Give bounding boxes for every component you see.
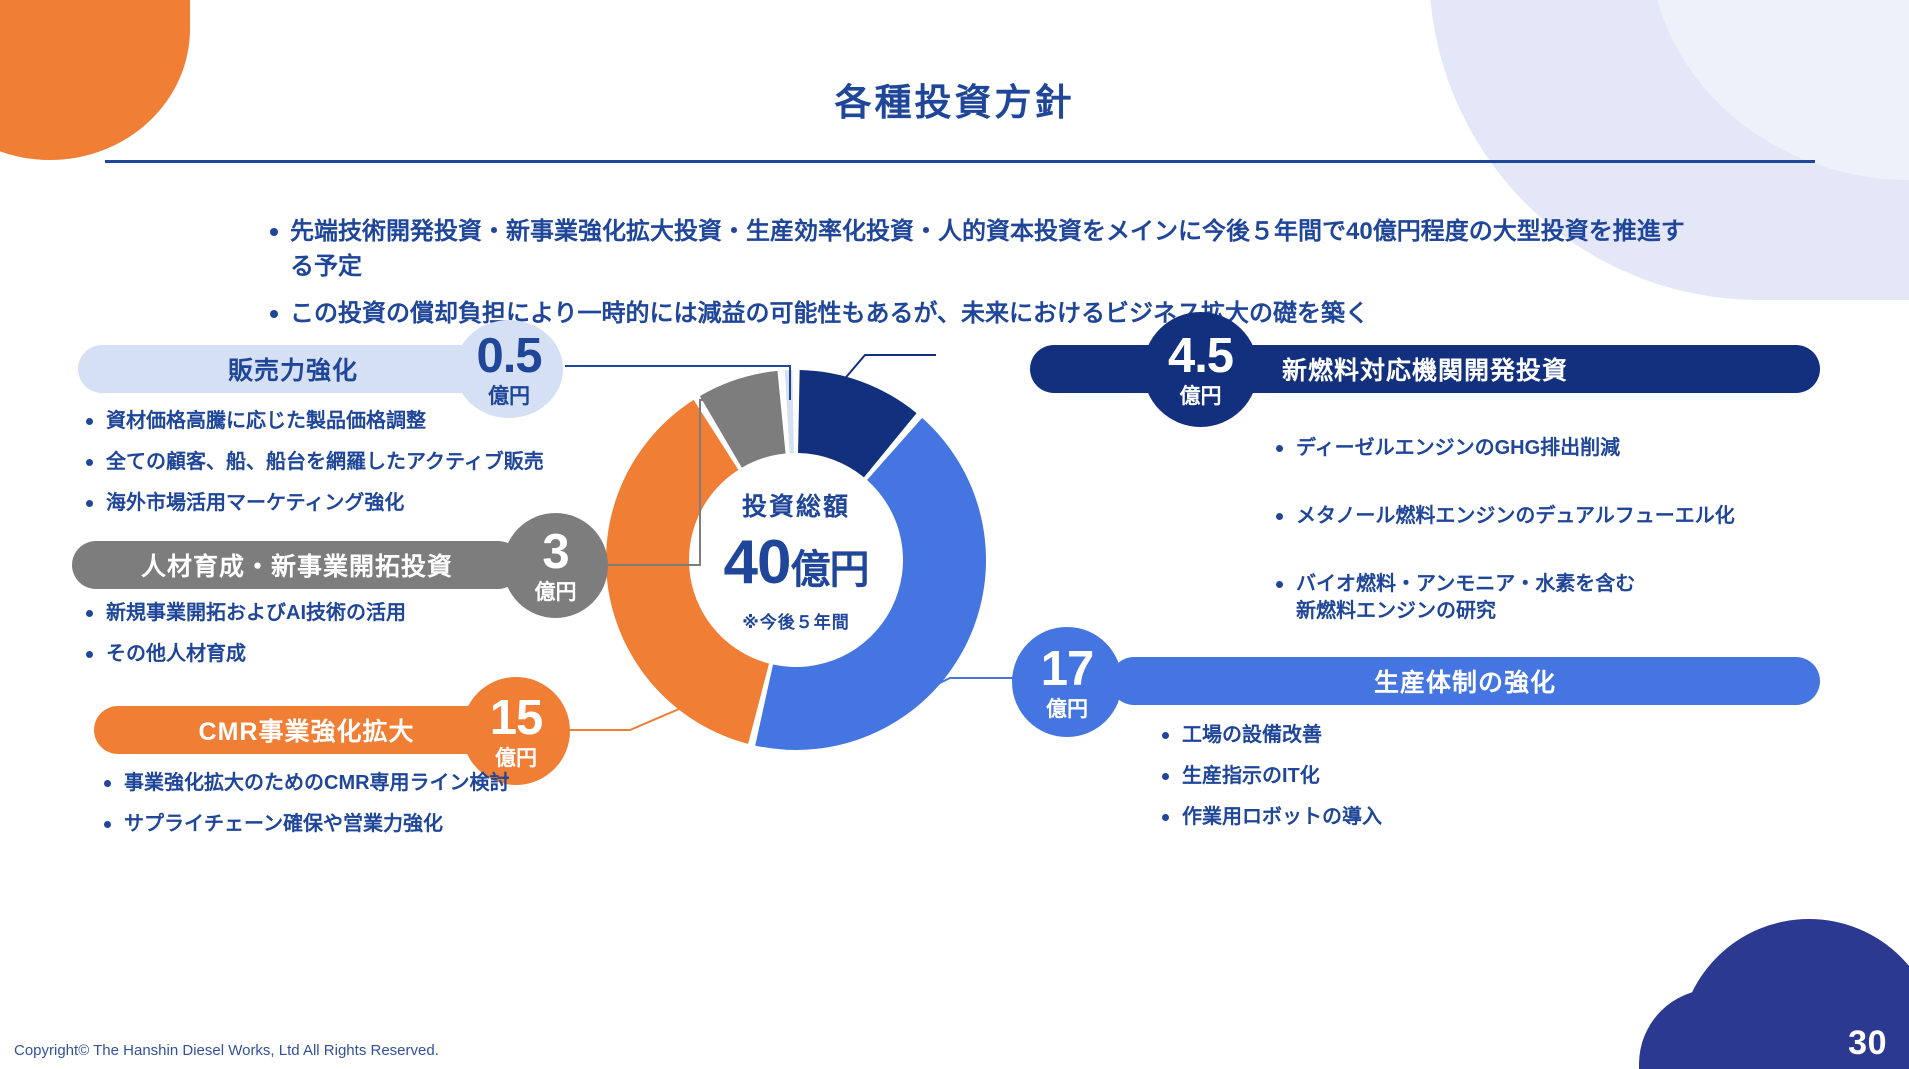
list-item: 作業用ロボットの導入 xyxy=(1158,804,1778,831)
donut-segment xyxy=(785,370,794,453)
section-pill-hr[interactable]: 人材育成・新事業開拓投資 xyxy=(72,541,522,589)
amount-unit-sales: 億円 xyxy=(488,386,530,407)
copyright-notice: Copyright© The Hanshin Diesel Works, Ltd… xyxy=(14,1042,439,1059)
amount-value-production: 17 xyxy=(1041,645,1094,694)
amount-value-newfuel: 4.5 xyxy=(1168,332,1233,381)
decoration-bottom-right-orange xyxy=(1669,959,1869,1069)
intro-bullet-list: 先端技術開発投資・新事業強化拡大投資・生産効率化投資・人的資本投資をメインに今後… xyxy=(268,215,1698,343)
section-pill-sales[interactable]: 販売力強化 xyxy=(78,345,508,393)
decoration-bottom-right-navy-small xyxy=(1639,989,1789,1069)
section-pill-production[interactable]: 生産体制の強化 xyxy=(1110,657,1820,705)
amount-value-sales: 0.5 xyxy=(476,332,541,381)
list-item: バイオ燃料・アンモニア・水素を含む 新燃料エンジンの研究 xyxy=(1272,571,1892,625)
section-label-cmr: CMR事業強化拡大 xyxy=(199,712,415,748)
bullet-list-production: 工場の設備改善 生産指示のIT化 作業用ロボットの導入 xyxy=(1158,722,1778,845)
list-item: 全ての顧客、船、船台を網羅したアクティブ販売 xyxy=(82,449,552,476)
amount-bubble-newfuel[interactable]: 4.5 億円 xyxy=(1143,312,1258,427)
amount-bubble-cmr[interactable]: 15 億円 xyxy=(462,677,570,785)
section-label-production: 生産体制の強化 xyxy=(1374,663,1556,699)
list-item: ディーゼルエンジンのGHG排出削減 xyxy=(1272,435,1892,462)
list-item: サプライチェーン確保や営業力強化 xyxy=(100,811,570,838)
amount-value-hr: 3 xyxy=(542,528,568,577)
amount-bubble-production[interactable]: 17 億円 xyxy=(1012,627,1122,737)
investment-donut-chart xyxy=(606,370,986,750)
title-divider xyxy=(105,160,1815,163)
amount-unit-production: 億円 xyxy=(1046,699,1088,720)
list-item: 事業強化拡大のためのCMR専用ライン検討 xyxy=(100,770,570,797)
list-item: 生産指示のIT化 xyxy=(1158,763,1778,790)
section-label-sales: 販売力強化 xyxy=(228,351,358,387)
section-pill-cmr[interactable]: CMR事業強化拡大 xyxy=(94,706,519,754)
list-item: その他人材育成 xyxy=(82,641,552,668)
amount-unit-newfuel: 億円 xyxy=(1180,386,1222,407)
list-item: 工場の設備改善 xyxy=(1158,722,1778,749)
intro-bullet: 先端技術開発投資・新事業強化拡大投資・生産効率化投資・人的資本投資をメインに今後… xyxy=(268,215,1698,285)
amount-unit-cmr: 億円 xyxy=(495,748,537,769)
bullet-list-sales: 資材価格高騰に応じた製品価格調整 全ての顧客、船、船台を網羅したアクティブ販売 … xyxy=(82,408,552,531)
bullet-list-newfuel: ディーゼルエンジンのGHG排出削減 メタノール燃料エンジンのデュアルフューエル化… xyxy=(1272,408,1892,666)
list-item: 新規事業開拓およびAI技術の活用 xyxy=(82,600,552,627)
section-label-hr: 人材育成・新事業開拓投資 xyxy=(141,547,453,583)
page-number: 30 xyxy=(1848,1024,1887,1063)
list-item: メタノール燃料エンジンのデュアルフューエル化 xyxy=(1272,503,1892,530)
list-item: 資材価格高騰に応じた製品価格調整 xyxy=(82,408,552,435)
bullet-list-hr: 新規事業開拓およびAI技術の活用 その他人材育成 xyxy=(82,600,552,682)
amount-bubble-sales[interactable]: 0.5 億円 xyxy=(455,320,563,418)
amount-value-cmr: 15 xyxy=(490,694,543,743)
bullet-list-cmr: 事業強化拡大のためのCMR専用ライン検討 サプライチェーン確保や営業力強化 xyxy=(100,770,570,852)
section-label-newfuel: 新燃料対応機関開発投資 xyxy=(1282,351,1568,387)
list-item: 海外市場活用マーケティング強化 xyxy=(82,490,552,517)
slide-canvas: 30 各種投資方針 先端技術開発投資・新事業強化拡大投資・生産効率化投資・人的資… xyxy=(0,0,1909,1069)
page-title: 各種投資方針 xyxy=(0,72,1909,126)
